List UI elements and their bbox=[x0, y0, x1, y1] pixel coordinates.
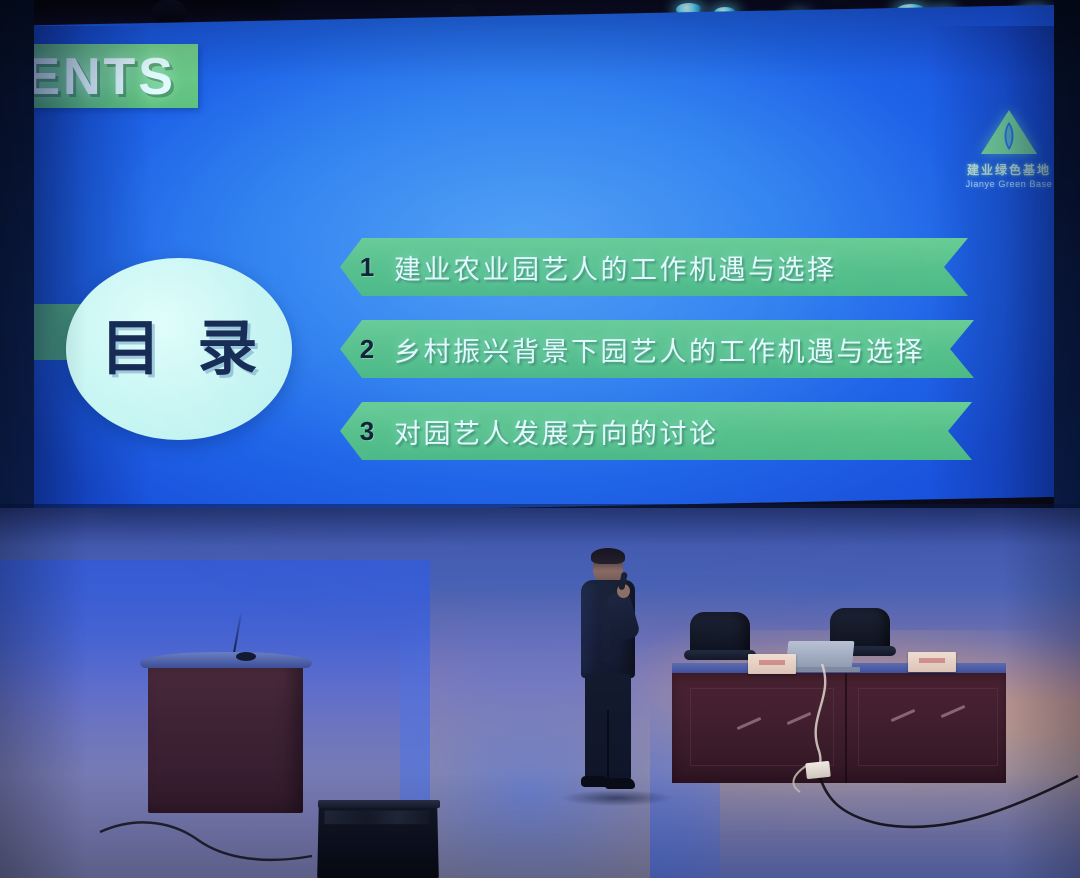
agenda-item-number: 1 bbox=[340, 252, 394, 283]
logo-name-cn: 建业绿色基地 bbox=[956, 161, 1062, 178]
agenda-item: 2 乡村振兴背景下园艺人的工作机遇与选择 bbox=[340, 320, 980, 378]
brand-logo: 建业绿色基地 Jianye Green Base bbox=[956, 108, 1062, 189]
agenda-item-label: 对园艺人发展方向的讨论 bbox=[394, 412, 719, 451]
presenter-shoe bbox=[605, 778, 635, 789]
stage-monitor-speaker bbox=[317, 805, 439, 878]
agenda-item: 1 建业农业园艺人的工作机遇与选择 bbox=[340, 238, 980, 296]
speaker-grille bbox=[324, 811, 429, 825]
nameplate bbox=[908, 652, 956, 672]
power-strip bbox=[805, 761, 831, 779]
triangle-leaf-logo-icon bbox=[978, 108, 1040, 158]
contents-badge-label: 目 录 bbox=[91, 319, 268, 379]
table-panel bbox=[690, 688, 834, 766]
stage-monitor-top bbox=[318, 800, 440, 808]
projection-screen: TENTS 建业绿色基地 Jianye Green Base 目 录 1 建业农 bbox=[0, 4, 1080, 518]
stage-back-shadow bbox=[0, 504, 1080, 546]
presenter-hair bbox=[591, 548, 625, 564]
agenda-item-number: 2 bbox=[340, 334, 394, 365]
lectern bbox=[148, 663, 303, 813]
nameplate bbox=[748, 654, 796, 674]
contents-badge: 目 录 bbox=[66, 258, 292, 440]
hall-wall-right bbox=[1054, 0, 1080, 560]
agenda-item: 3 对园艺人发展方向的讨论 bbox=[340, 402, 980, 460]
logo-name-en: Jianye Green Base bbox=[956, 179, 1062, 189]
agenda-list: 1 建业农业园艺人的工作机遇与选择 2 乡村振兴背景下园艺人的工作机遇与选择 3… bbox=[340, 238, 980, 484]
head-table-seam bbox=[845, 673, 847, 783]
chair-arm bbox=[684, 650, 756, 660]
stage-photo: TENTS 建业绿色基地 Jianye Green Base 目 录 1 建业农 bbox=[0, 0, 1080, 878]
agenda-item-label: 建业农业园艺人的工作机遇与选择 bbox=[394, 248, 837, 287]
lectern-top bbox=[140, 652, 312, 668]
agenda-item-label: 乡村振兴背景下园艺人的工作机遇与选择 bbox=[394, 330, 925, 369]
presenter bbox=[573, 550, 643, 800]
podium-microphone-base bbox=[236, 652, 256, 661]
presenter-leg-seam bbox=[607, 710, 609, 780]
table-panel bbox=[858, 688, 998, 766]
agenda-item-number: 3 bbox=[340, 416, 394, 447]
hall-wall-left bbox=[0, 0, 34, 560]
